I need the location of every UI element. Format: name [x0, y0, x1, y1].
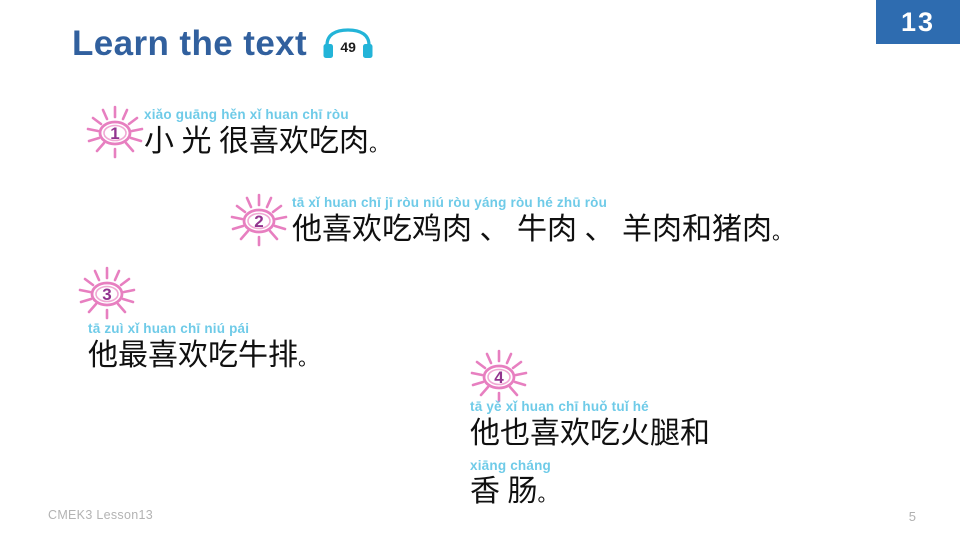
pinyin-line-2: tā xǐ huan chī jī ròu niú ròu yáng ròu h… [292, 196, 792, 210]
sentence-number-2: 2 [228, 192, 290, 250]
sunburst-icon-1: 1 [84, 104, 146, 162]
period-3: 。 [298, 348, 318, 370]
sentence-block-1: xiǎo guāng hěn xǐ huan chī ròu 小 光 很喜欢吃肉… [144, 108, 389, 159]
pinyin-line-4a: tā yě xǐ huan chī huǒ tuǐ hé [470, 400, 710, 414]
sunburst-icon-4: 4 [468, 348, 530, 406]
lesson-number-badge: 13 [876, 0, 960, 44]
hanzi-text-3: 他最喜欢吃牛排 [88, 339, 298, 372]
hanzi-line-2: 他喜欢吃鸡肉 、 牛肉 、 羊肉和猪肉。 [292, 212, 792, 247]
hanzi-line-4a: 他也喜欢吃火腿和 [470, 416, 710, 451]
pinyin-line-4b: xiāng cháng [470, 459, 710, 473]
lesson-number-text: 13 [901, 9, 935, 36]
audio-track-number: 49 [321, 27, 375, 61]
pinyin-line-3: tā zuì xǐ huan chī niú pái [88, 322, 318, 336]
hanzi-text-2: 他喜欢吃鸡肉 、 牛肉 、 羊肉和猪肉 [292, 213, 772, 246]
page-number: 5 [909, 509, 916, 524]
hanzi-line-3: 他最喜欢吃牛排。 [88, 338, 318, 373]
sentence-number-4: 4 [468, 348, 530, 406]
period-2: 。 [772, 222, 792, 244]
sunburst-icon-3: 3 [76, 265, 138, 323]
pinyin-line-1: xiǎo guāng hěn xǐ huan chī ròu [144, 108, 389, 122]
hanzi-text-4b: 香 肠 [470, 475, 538, 508]
hanzi-line-1: 小 光 很喜欢吃肉。 [144, 124, 389, 159]
sunburst-icon-2: 2 [228, 192, 290, 250]
sentence-block-2: tā xǐ huan chī jī ròu niú ròu yáng ròu h… [292, 196, 792, 247]
sentence-number-1: 1 [84, 104, 146, 162]
hanzi-line-4b: 香 肠。 [470, 474, 710, 509]
hanzi-text-1: 小 光 很喜欢吃肉 [144, 125, 369, 158]
slide-canvas: 13 Learn the text 49 [0, 0, 960, 540]
sentence-block-3: tā zuì xǐ huan chī niú pái 他最喜欢吃牛排。 [88, 322, 318, 373]
headphones-icon[interactable]: 49 [321, 27, 375, 61]
sentence-number-3: 3 [76, 265, 138, 323]
page-title: Learn the text [72, 26, 307, 61]
period-1: 。 [369, 134, 389, 156]
slide-title-row: Learn the text 49 [72, 26, 375, 61]
sentence-block-4: tā yě xǐ huan chī huǒ tuǐ hé 他也喜欢吃火腿和 xi… [470, 400, 710, 510]
footer-lesson-label: CMEK3 Lesson13 [48, 508, 153, 522]
period-4: 。 [538, 484, 558, 506]
